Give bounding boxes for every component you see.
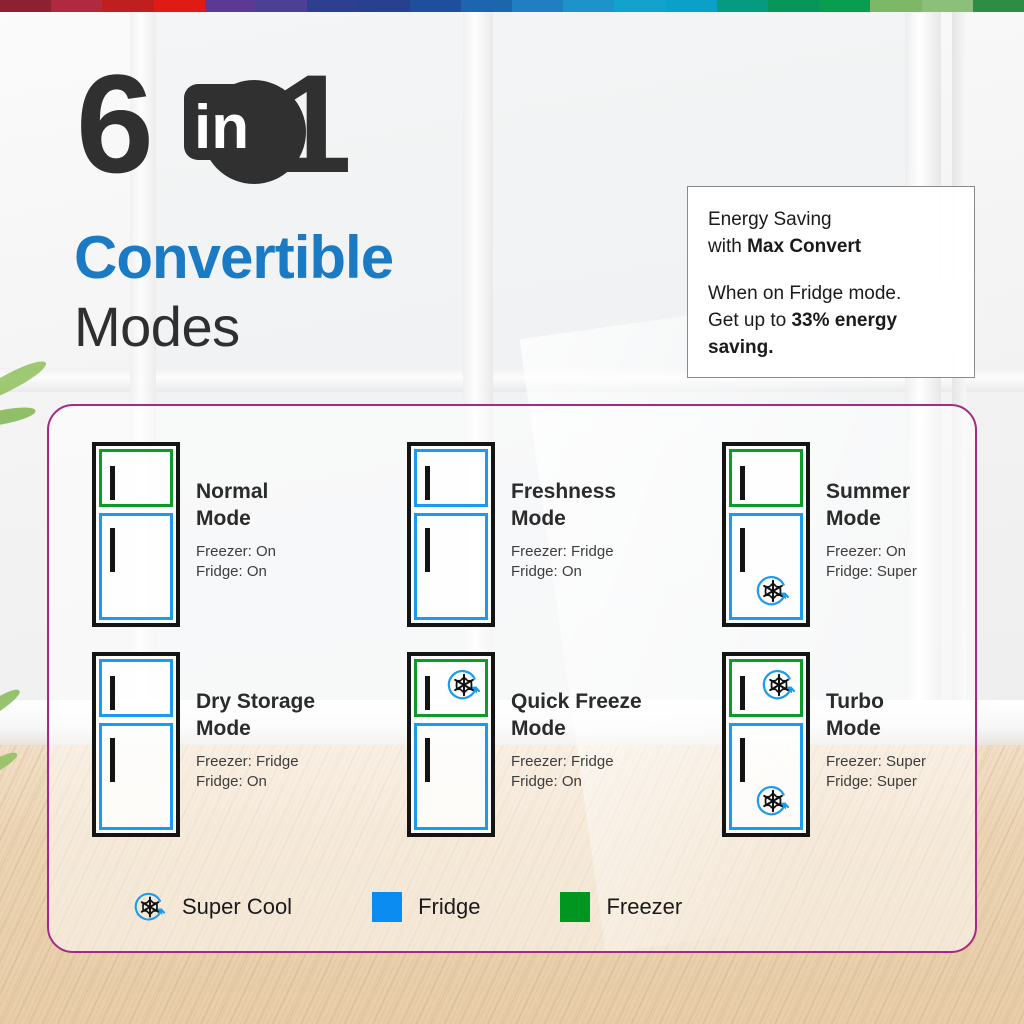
freezer-compartment [99, 659, 173, 717]
energy-line-1: Energy Saving [708, 207, 956, 234]
legend-item-fridge: Fridge [372, 892, 480, 922]
legend-label: Freezer [606, 894, 682, 920]
fridge-compartment [729, 513, 803, 620]
door-handle-icon [740, 738, 745, 782]
mode-fridge-state: Fridge: On [511, 772, 642, 793]
color-strip-segment [563, 0, 614, 12]
color-strip-segment [102, 0, 153, 12]
mode-fridge-state: Fridge: On [511, 562, 616, 583]
mode-text-summer: SummerModeFreezer: OnFridge: Super [826, 442, 917, 583]
mode-name-second-line: Mode [196, 715, 315, 742]
color-strip-segment [461, 0, 512, 12]
super-cool-icon [134, 891, 166, 923]
energy-line-3: When on Fridge mode. [708, 281, 956, 308]
door-handle-icon [425, 528, 430, 572]
mode-freezer-state: Freezer: On [196, 542, 276, 563]
mode-name: Quick Freeze [511, 688, 642, 715]
color-strip-segment [614, 0, 665, 12]
top-color-strip [0, 0, 1024, 12]
color-strip-segment [51, 0, 102, 12]
svg-text:6: 6 [76, 66, 154, 184]
legend-label: Super Cool [182, 894, 292, 920]
door-handle-icon [425, 466, 430, 500]
mode-item-normal[interactable]: NormalModeFreezer: OnFridge: On [92, 442, 407, 652]
mode-name: Turbo [826, 688, 926, 715]
color-strip-segment [307, 0, 358, 12]
energy-line-4: Get up to 33% energy [708, 308, 956, 335]
color-strip-segment [922, 0, 973, 12]
mode-text-turbo: TurboModeFreezer: SuperFridge: Super [826, 652, 926, 793]
refrigerator-icon-normal [92, 442, 180, 627]
fridge-compartment [99, 723, 173, 830]
legend-swatch-fridge [372, 892, 402, 922]
energy-line-4-bold: 33% energy [791, 310, 897, 331]
mode-details: Freezer: FridgeFridge: On [511, 752, 642, 793]
door-handle-icon [740, 466, 745, 500]
mode-name: Normal [196, 478, 276, 505]
mode-name: Freshness [511, 478, 616, 505]
color-strip-segment [717, 0, 768, 12]
mode-item-quick-freeze[interactable]: Quick FreezeModeFreezer: FridgeFridge: O… [407, 652, 722, 862]
fridge-compartment [414, 723, 488, 830]
super-cool-badge [756, 574, 790, 613]
title-convertible: Convertible [74, 228, 393, 288]
mode-name-second-line: Mode [826, 505, 917, 532]
energy-saving-callout: Energy Saving with Max Convert When on F… [687, 186, 975, 378]
color-strip-segment [205, 0, 256, 12]
freezer-compartment [729, 449, 803, 507]
svg-text:1: 1 [274, 66, 352, 184]
color-strip-segment [358, 0, 409, 12]
mode-text-quick-freeze: Quick FreezeModeFreezer: FridgeFridge: O… [511, 652, 642, 793]
energy-line-5-bold: saving. [708, 337, 773, 358]
mode-freezer-state: Freezer: Fridge [196, 752, 315, 773]
mode-details: Freezer: FridgeFridge: On [196, 752, 315, 793]
freezer-compartment [729, 659, 803, 717]
color-strip-segment [512, 0, 563, 12]
door-handle-icon [110, 528, 115, 572]
door-handle-icon [110, 738, 115, 782]
mode-item-turbo[interactable]: TurboModeFreezer: SuperFridge: Super [722, 652, 942, 862]
color-strip-segment [870, 0, 921, 12]
legend-swatch-freezer [560, 892, 590, 922]
color-strip-segment [768, 0, 819, 12]
door-handle-icon [110, 676, 115, 710]
mode-freezer-state: Freezer: Super [826, 752, 926, 773]
super-cool-badge [447, 668, 481, 707]
svg-text:in: in [194, 93, 249, 162]
refrigerator-icon-summer [722, 442, 810, 627]
super-cool-badge [762, 668, 796, 707]
refrigerator-icon-turbo [722, 652, 810, 837]
mode-item-dry-storage[interactable]: Dry StorageModeFreezer: FridgeFridge: On [92, 652, 407, 862]
color-strip-segment [256, 0, 307, 12]
energy-line-2-plain: with [708, 236, 747, 257]
legend-label: Fridge [418, 894, 480, 920]
mode-fridge-state: Fridge: Super [826, 772, 926, 793]
door-handle-icon [110, 466, 115, 500]
super-cool-icon [762, 668, 796, 702]
mode-name-second-line: Mode [826, 715, 926, 742]
super-cool-badge [756, 784, 790, 823]
fridge-compartment [414, 513, 488, 620]
six-in-one-logo: 6 in 1 [76, 66, 366, 184]
super-cool-icon [756, 784, 790, 818]
mode-details: Freezer: FridgeFridge: On [511, 542, 616, 583]
mode-freezer-state: Freezer: Fridge [511, 752, 642, 773]
legend-item-super-cool: Super Cool [134, 891, 292, 923]
mode-freezer-state: Freezer: On [826, 542, 917, 563]
energy-line-2-bold: Max Convert [747, 236, 861, 257]
mode-name: Summer [826, 478, 917, 505]
mode-name-second-line: Mode [511, 505, 616, 532]
super-cool-icon [756, 574, 790, 608]
refrigerator-icon-quick-freeze [407, 652, 495, 837]
door-handle-icon [425, 676, 430, 710]
mode-name: Dry Storage [196, 688, 315, 715]
spacer [708, 261, 956, 281]
mode-details: Freezer: SuperFridge: Super [826, 752, 926, 793]
convertible-modes-panel: NormalModeFreezer: OnFridge: OnFreshness… [47, 404, 977, 953]
door-handle-icon [425, 738, 430, 782]
color-strip-segment [154, 0, 205, 12]
page-title: Convertible Modes [74, 228, 393, 359]
mode-item-summer[interactable]: SummerModeFreezer: OnFridge: Super [722, 442, 942, 652]
mode-details: Freezer: OnFridge: On [196, 542, 276, 583]
color-strip-segment [0, 0, 51, 12]
energy-line-4-plain: Get up to [708, 310, 791, 331]
refrigerator-icon-dry-storage [92, 652, 180, 837]
mode-fridge-state: Fridge: Super [826, 562, 917, 583]
mode-fridge-state: Fridge: On [196, 772, 315, 793]
door-handle-icon [740, 676, 745, 710]
color-strip-segment [973, 0, 1024, 12]
mode-fridge-state: Fridge: On [196, 562, 276, 583]
mode-item-freshness[interactable]: FreshnessModeFreezer: FridgeFridge: On [407, 442, 722, 652]
mode-details: Freezer: OnFridge: Super [826, 542, 917, 583]
fridge-compartment [99, 513, 173, 620]
refrigerator-icon-freshness [407, 442, 495, 627]
color-strip-segment [666, 0, 717, 12]
mode-freezer-state: Freezer: Fridge [511, 542, 616, 563]
super-cool-icon [447, 668, 481, 702]
mode-text-dry-storage: Dry StorageModeFreezer: FridgeFridge: On [196, 652, 315, 793]
energy-line-5: saving. [708, 335, 956, 362]
energy-line-2: with Max Convert [708, 234, 956, 261]
color-strip-segment [410, 0, 461, 12]
mode-text-freshness: FreshnessModeFreezer: FridgeFridge: On [511, 442, 616, 583]
mode-name-second-line: Mode [511, 715, 642, 742]
door-handle-icon [740, 528, 745, 572]
mode-name-second-line: Mode [196, 505, 276, 532]
title-modes: Modes [74, 296, 393, 359]
mode-text-normal: NormalModeFreezer: OnFridge: On [196, 442, 276, 583]
color-strip-segment [819, 0, 870, 12]
freezer-compartment [414, 449, 488, 507]
freezer-compartment [99, 449, 173, 507]
legend-item-freezer: Freezer [560, 892, 682, 922]
modes-grid: NormalModeFreezer: OnFridge: OnFreshness… [92, 442, 942, 862]
freezer-compartment [414, 659, 488, 717]
legend: Super CoolFridgeFreezer [134, 891, 762, 923]
fridge-compartment [729, 723, 803, 830]
